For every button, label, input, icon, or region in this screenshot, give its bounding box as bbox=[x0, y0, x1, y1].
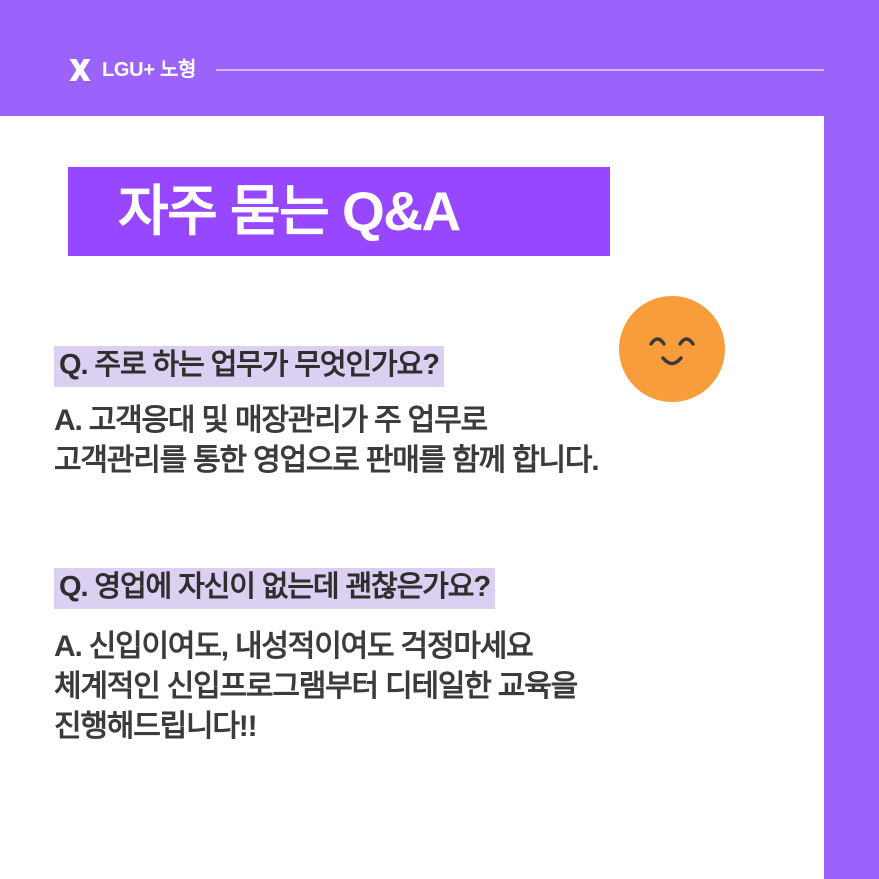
header-divider bbox=[216, 69, 824, 71]
page-title: 자주 묻는 Q&A bbox=[68, 184, 460, 239]
faq-question: Q. 주로 하는 업무가 무엇인가요? bbox=[54, 346, 444, 387]
page-title-banner: 자주 묻는 Q&A bbox=[68, 167, 610, 256]
faq-item: Q. 주로 하는 업무가 무엇인가요? A. 고객응대 및 매장관리가 주 업무… bbox=[54, 346, 598, 481]
faq-answer-line: A. 고객응대 및 매장관리가 주 업무로 bbox=[54, 401, 598, 441]
card-header: LGU+ 노형 bbox=[0, 0, 879, 116]
faq-question: Q. 영업에 자신이 없는데 괜찮은가요? bbox=[54, 568, 495, 609]
faq-answer-line: 고객관리를 통한 영업으로 판매를 함께 합니다. bbox=[54, 441, 598, 481]
faq-answer-line: 체계적인 신입프로그램부터 디테일한 교육을 bbox=[54, 667, 577, 707]
faq-answer: A. 고객응대 및 매장관리가 주 업무로 고객관리를 통한 영업으로 판매를 … bbox=[54, 401, 598, 481]
brand-name: LGU+ 노형 bbox=[102, 60, 196, 80]
smiling-face-icon bbox=[619, 296, 725, 402]
faq-answer: A. 신입이여도, 내성적이여도 걱정마세요 체계적인 신입프로그램부터 디테일… bbox=[54, 627, 577, 747]
faq-answer-line: 진행해드립니다!! bbox=[54, 707, 577, 747]
faq-card: LGU+ 노형 자주 묻는 Q&A Q. 주로 하는 업무가 무엇인가요? A.… bbox=[0, 0, 879, 879]
brand-lockup: LGU+ 노형 bbox=[68, 55, 196, 85]
lgu-plus-x-mark-icon bbox=[68, 59, 92, 81]
faq-answer-line: A. 신입이여도, 내성적이여도 걱정마세요 bbox=[54, 627, 577, 667]
faq-item: Q. 영업에 자신이 없는데 괜찮은가요? A. 신입이여도, 내성적이여도 걱… bbox=[54, 568, 577, 747]
